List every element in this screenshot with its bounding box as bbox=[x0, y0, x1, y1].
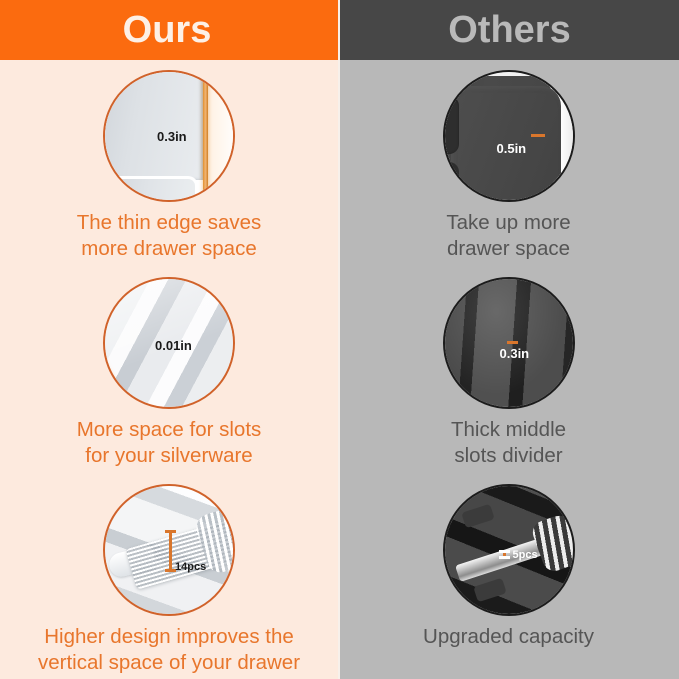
tray-body-shape bbox=[105, 72, 203, 180]
height-measure-ibeam bbox=[503, 550, 506, 559]
fork-tines-shape bbox=[529, 510, 573, 575]
ours-header-title: Ours bbox=[123, 11, 212, 49]
measurement-label: 14pcs bbox=[175, 562, 206, 573]
tray-notch-shape bbox=[461, 504, 494, 528]
height-measure-ibeam bbox=[169, 530, 172, 572]
others-row-slot-divider: 0.3in Thick middle slots divider bbox=[338, 277, 679, 484]
caption-line-1: Upgraded capacity bbox=[423, 624, 594, 650]
dark-tray-slot-shape bbox=[445, 162, 459, 200]
caption-line-2: for your silverware bbox=[77, 443, 262, 469]
ours-row-thin-edge: 0.3in The thin edge saves more drawer sp… bbox=[0, 70, 338, 277]
width-measure-tick bbox=[531, 134, 545, 137]
tray-notch-shape bbox=[473, 578, 506, 602]
ours-caption-thin-edge: The thin edge saves more drawer space bbox=[71, 210, 268, 262]
others-caption-thick-edge: Take up more drawer space bbox=[440, 210, 576, 262]
measurement-label: 0.5in bbox=[497, 142, 527, 155]
stacked-silverware-photo: 14pcs bbox=[103, 484, 235, 616]
caption-line-1: The thin edge saves bbox=[77, 210, 262, 236]
ours-row-capacity: 14pcs Higher design improves the vertica… bbox=[0, 484, 338, 679]
ours-row-slot-divider: 0.01in More space for slots for your sil… bbox=[0, 277, 338, 484]
measurement-label: 0.3in bbox=[500, 347, 530, 360]
others-row-capacity: 5pcs Upgraded capacity bbox=[338, 484, 679, 679]
others-caption-slot-divider: Thick middle slots divider bbox=[445, 417, 572, 469]
dark-tray-thick-slot-divider-photo: 0.3in bbox=[443, 277, 575, 409]
others-row-thick-edge: 0.5in Take up more drawer space bbox=[338, 70, 679, 277]
tray-edge-highlight-line bbox=[203, 72, 208, 200]
caption-line-1: Take up more bbox=[446, 210, 570, 236]
comparison-infographic: Ours 0.3in The thin edge saves more draw… bbox=[0, 0, 679, 679]
others-column: Others 0.5in Take up more bbox=[338, 0, 679, 679]
tray-thin-edge-photo: 0.3in bbox=[103, 70, 235, 202]
measurement-label: 5pcs bbox=[513, 550, 538, 561]
ours-header: Ours bbox=[0, 0, 338, 60]
caption-line-2: drawer space bbox=[446, 236, 570, 262]
dark-tray-slot-shape bbox=[445, 96, 459, 154]
caption-line-2: more drawer space bbox=[77, 236, 262, 262]
others-header-title: Others bbox=[448, 11, 570, 49]
column-divider bbox=[338, 0, 340, 679]
dark-tray-thick-edge-photo: 0.5in bbox=[443, 70, 575, 202]
ours-body: 0.3in The thin edge saves more drawer sp… bbox=[0, 60, 338, 679]
tray-thin-slot-divider-photo: 0.01in bbox=[103, 277, 235, 409]
measurement-label: 0.3in bbox=[157, 130, 187, 143]
tray-lower-body-shape bbox=[105, 176, 198, 200]
dark-tray-single-fork-photo: 5pcs bbox=[443, 484, 575, 616]
width-measure-tick bbox=[507, 341, 518, 344]
ours-caption-slot-divider: More space for slots for your silverware bbox=[71, 417, 268, 469]
caption-line-2: slots divider bbox=[451, 443, 566, 469]
others-caption-capacity: Upgraded capacity bbox=[417, 624, 600, 650]
caption-line-2: vertical space of your drawer bbox=[38, 650, 300, 676]
measurement-label: 0.01in bbox=[155, 339, 192, 352]
ours-caption-capacity: Higher design improves the vertical spac… bbox=[36, 624, 302, 676]
ours-column: Ours 0.3in The thin edge saves more draw… bbox=[0, 0, 338, 679]
caption-line-1: Higher design improves the bbox=[38, 624, 300, 650]
tray-edge-glow bbox=[208, 72, 233, 200]
others-body: 0.5in Take up more drawer space 0.3in bbox=[338, 60, 679, 679]
caption-line-1: More space for slots bbox=[77, 417, 262, 443]
caption-line-1: Thick middle bbox=[451, 417, 566, 443]
others-header: Others bbox=[338, 0, 679, 60]
